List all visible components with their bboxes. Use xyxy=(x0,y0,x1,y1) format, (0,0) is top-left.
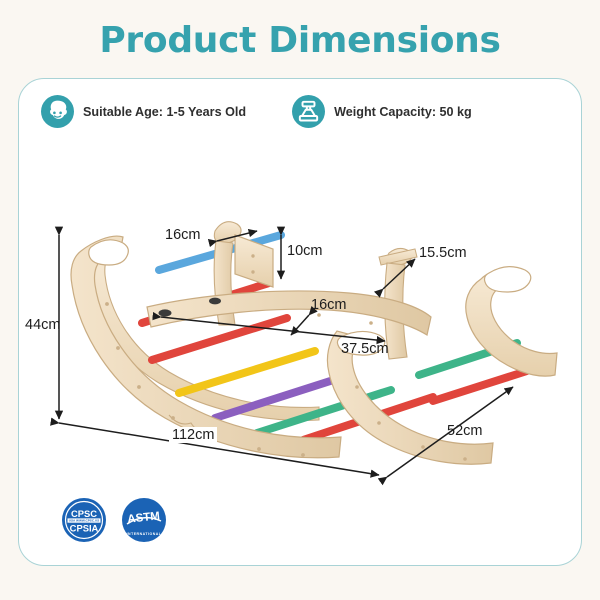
spec-suitable-age: Suitable Age: 1-5 Years Old xyxy=(41,95,246,128)
cpsc-cpsia-badge: CPSC USA WWW.CPSC.US CPSIA xyxy=(61,497,107,543)
dim-label-backrest-height: 10cm xyxy=(287,243,322,259)
spec-weight-capacity: Weight Capacity: 50 kg xyxy=(292,95,472,128)
certification-badges: CPSC USA WWW.CPSC.US CPSIA ASTM INTERNAT… xyxy=(61,497,167,543)
astm-international-badge: ASTM INTERNATIONAL xyxy=(121,497,167,543)
spec-suitable-age-label: Suitable Age: 1-5 Years Old xyxy=(83,105,246,119)
dimension-labels: 16cm 10cm 15.5cm 16cm 37.5cm 44cm 112cm … xyxy=(19,175,583,495)
dim-label-overall-depth: 52cm xyxy=(447,423,482,439)
cpsc-line3: CPSIA xyxy=(70,522,99,533)
dim-label-plank-width: 16cm xyxy=(311,297,346,313)
spec-row: Suitable Age: 1-5 Years Old Weight Capac… xyxy=(19,95,581,128)
page-title: Product Dimensions xyxy=(0,20,600,61)
dim-label-seat-width: 16cm xyxy=(165,227,200,243)
dim-label-peg-length: 15.5cm xyxy=(419,245,467,261)
product-illustration: 16cm 10cm 15.5cm 16cm 37.5cm 44cm 112cm … xyxy=(19,175,583,495)
cpsc-line1: CPSC xyxy=(71,508,97,519)
product-dimensions-page: Product Dimensions Suitable Age: 1-5 Yea… xyxy=(0,0,600,600)
dim-label-plank-length: 37.5cm xyxy=(341,341,389,357)
dim-label-overall-length: 112cm xyxy=(169,427,217,443)
dimensions-card: Suitable Age: 1-5 Years Old Weight Capac… xyxy=(18,78,582,566)
spec-weight-capacity-label: Weight Capacity: 50 kg xyxy=(334,105,472,119)
baby-face-icon xyxy=(41,95,74,128)
astm-line2: INTERNATIONAL xyxy=(127,532,162,536)
weight-scale-icon xyxy=(292,95,325,128)
dim-label-overall-height: 44cm xyxy=(25,317,60,333)
